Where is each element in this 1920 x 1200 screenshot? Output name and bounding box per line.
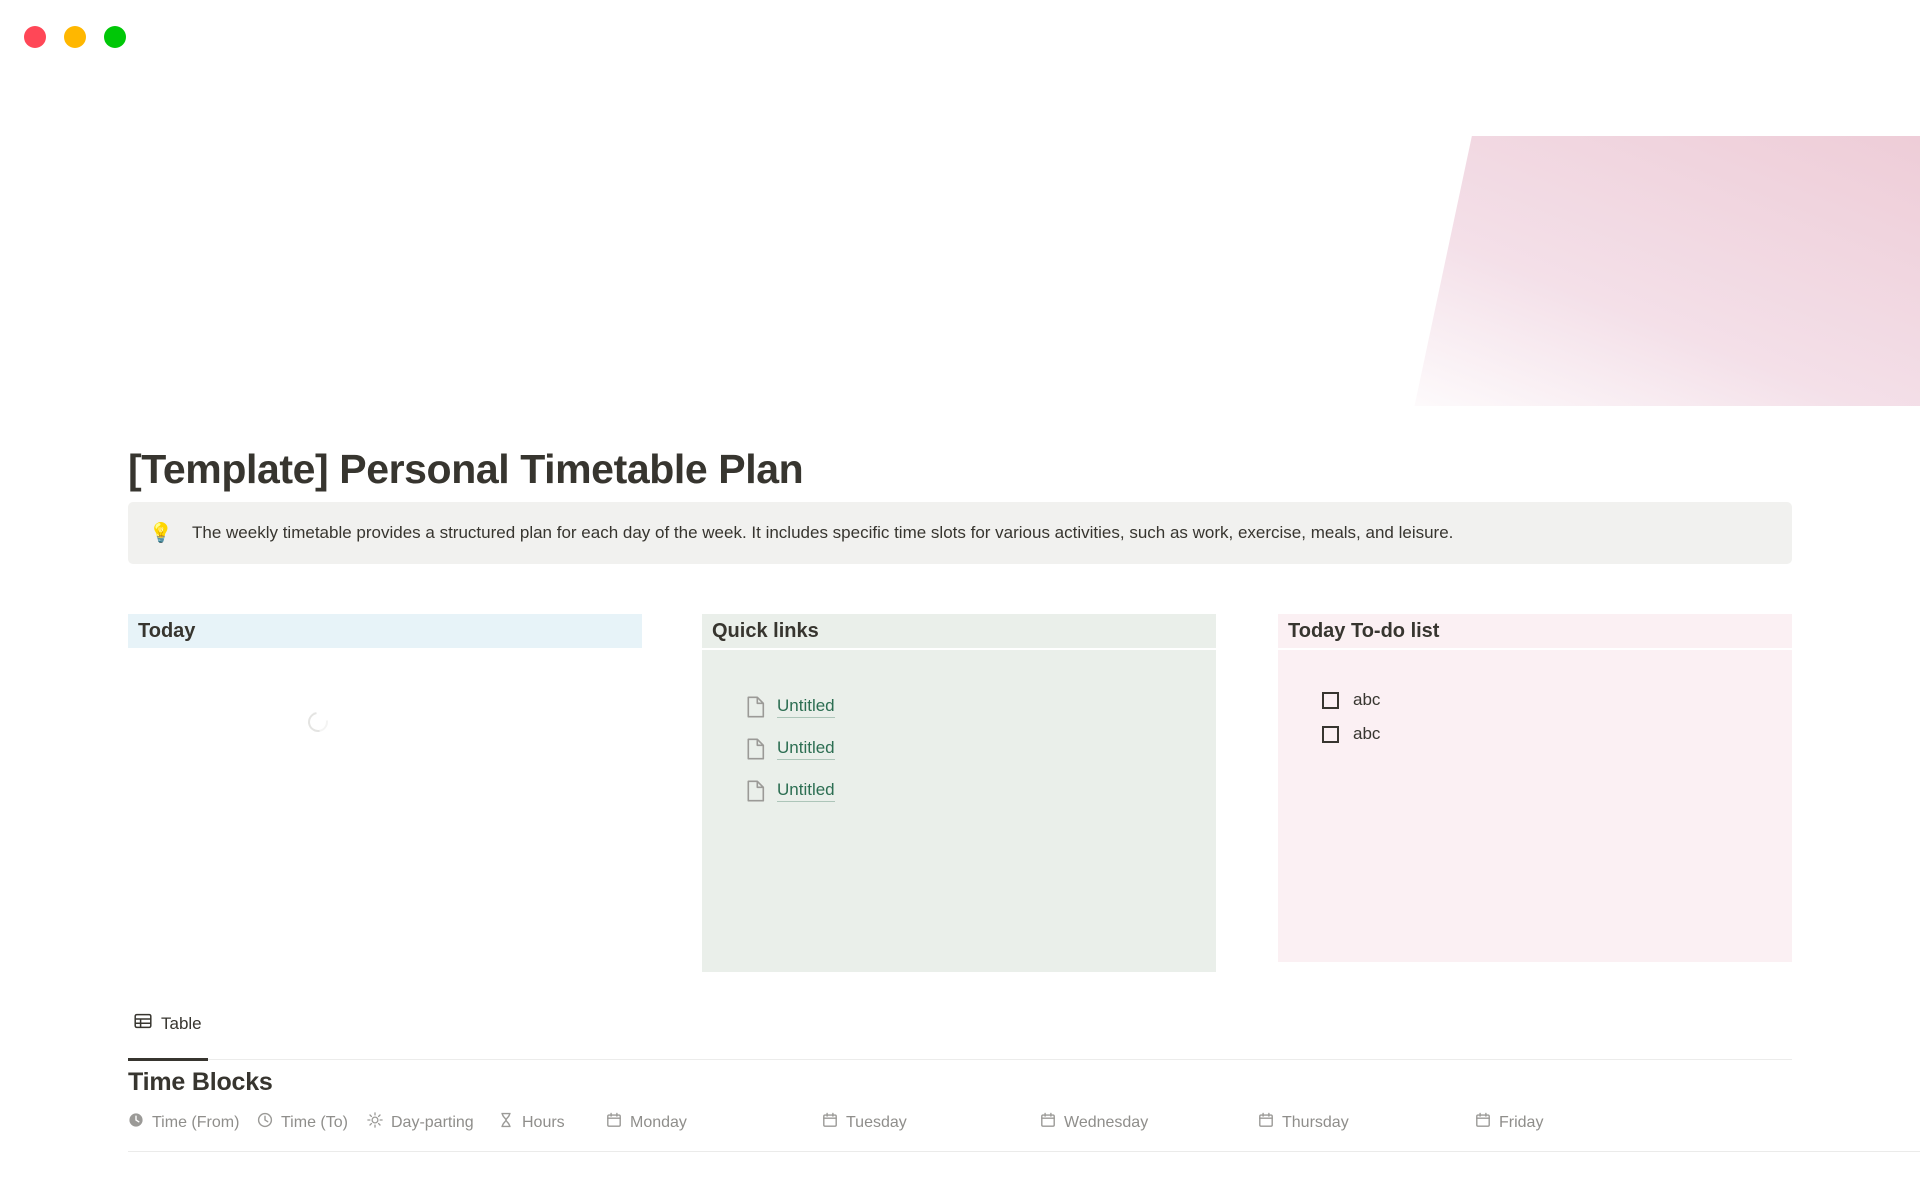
column-header-thursday[interactable]: Thursday (1258, 1112, 1349, 1133)
document-icon (746, 696, 765, 718)
database-title[interactable]: Time Blocks (128, 1068, 273, 1097)
column-label: Tuesday (846, 1114, 907, 1132)
list-item[interactable]: Untitled (746, 738, 835, 760)
clock-outline-icon (257, 1112, 273, 1133)
calendar-icon (1475, 1112, 1491, 1133)
column-label: Time (To) (281, 1114, 348, 1132)
database-view-tabs: Table (128, 1012, 1792, 1045)
column-label: Monday (630, 1114, 687, 1132)
today-card-body (128, 648, 642, 962)
quick-link[interactable]: Untitled (777, 738, 835, 760)
calendar-icon (1258, 1112, 1274, 1133)
column-header-wednesday[interactable]: Wednesday (1040, 1112, 1148, 1133)
todo-label: abc (1353, 724, 1380, 744)
table-header-divider (128, 1151, 1920, 1152)
todo-checkbox[interactable] (1322, 726, 1339, 743)
column-label: Thursday (1282, 1114, 1349, 1132)
tab-table[interactable]: Table (128, 1012, 210, 1045)
document-icon (746, 780, 765, 802)
active-tab-indicator (128, 1058, 208, 1061)
spinner-icon (304, 708, 332, 736)
list-item[interactable]: Untitled (746, 696, 835, 718)
column-header-time-from[interactable]: Time (From) (128, 1112, 239, 1133)
tabs-divider (128, 1059, 1792, 1060)
hourglass-icon (498, 1112, 514, 1133)
clock-filled-icon (128, 1112, 144, 1133)
document-icon (746, 738, 765, 760)
column-header-hours[interactable]: Hours (498, 1112, 565, 1133)
column-header-tuesday[interactable]: Tuesday (822, 1112, 907, 1133)
minimize-window-button[interactable] (64, 26, 86, 48)
calendar-icon (822, 1112, 838, 1133)
quick-links-card-title: Quick links (712, 620, 819, 643)
tab-table-label: Table (161, 1014, 202, 1034)
list-item[interactable]: abc (1322, 724, 1380, 744)
page-title[interactable]: [Template] Personal Timetable Plan (128, 446, 803, 493)
maximize-window-button[interactable] (104, 26, 126, 48)
todo-label: abc (1353, 690, 1380, 710)
quick-link[interactable]: Untitled (777, 780, 835, 802)
page-cover-banner[interactable] (0, 73, 1920, 406)
today-card-title: Today (138, 620, 195, 643)
table-icon (134, 1012, 152, 1035)
list-item[interactable]: abc (1322, 690, 1380, 710)
info-callout[interactable]: 💡 The weekly timetable provides a struct… (128, 502, 1792, 564)
close-window-button[interactable] (24, 26, 46, 48)
todo-card-title: Today To-do list (1288, 620, 1439, 643)
sun-icon (367, 1112, 383, 1133)
quick-links-list: Untitled Untitled Unti (746, 696, 835, 802)
column-header-monday[interactable]: Monday (606, 1112, 687, 1133)
calendar-icon (1040, 1112, 1056, 1133)
quick-link[interactable]: Untitled (777, 696, 835, 718)
column-label: Wednesday (1064, 1114, 1148, 1132)
column-label: Friday (1499, 1114, 1543, 1132)
callout-text: The weekly timetable provides a structur… (192, 521, 1453, 546)
list-item[interactable]: Untitled (746, 780, 835, 802)
todo-card-header[interactable]: Today To-do list (1278, 614, 1792, 648)
table-column-headers: Time (From) Time (To) Day-parting Hours … (128, 1112, 1918, 1142)
column-header-day-parting[interactable]: Day-parting (367, 1112, 474, 1133)
column-label: Day-parting (391, 1114, 474, 1132)
todo-card-body: abc abc (1278, 650, 1792, 962)
window-titlebar (0, 0, 1920, 73)
column-label: Hours (522, 1114, 565, 1132)
column-header-friday[interactable]: Friday (1475, 1112, 1543, 1133)
today-card-header[interactable]: Today (128, 614, 642, 648)
column-label: Time (From) (152, 1114, 239, 1132)
todo-list: abc abc (1322, 690, 1380, 744)
quick-links-card-body: Untitled Untitled Unti (702, 650, 1216, 972)
column-header-time-to[interactable]: Time (To) (257, 1112, 348, 1133)
calendar-icon (606, 1112, 622, 1133)
quick-links-card-header[interactable]: Quick links (702, 614, 1216, 648)
todo-checkbox[interactable] (1322, 692, 1339, 709)
light-bulb-icon: 💡 (148, 524, 174, 543)
traffic-light-controls (24, 26, 126, 48)
